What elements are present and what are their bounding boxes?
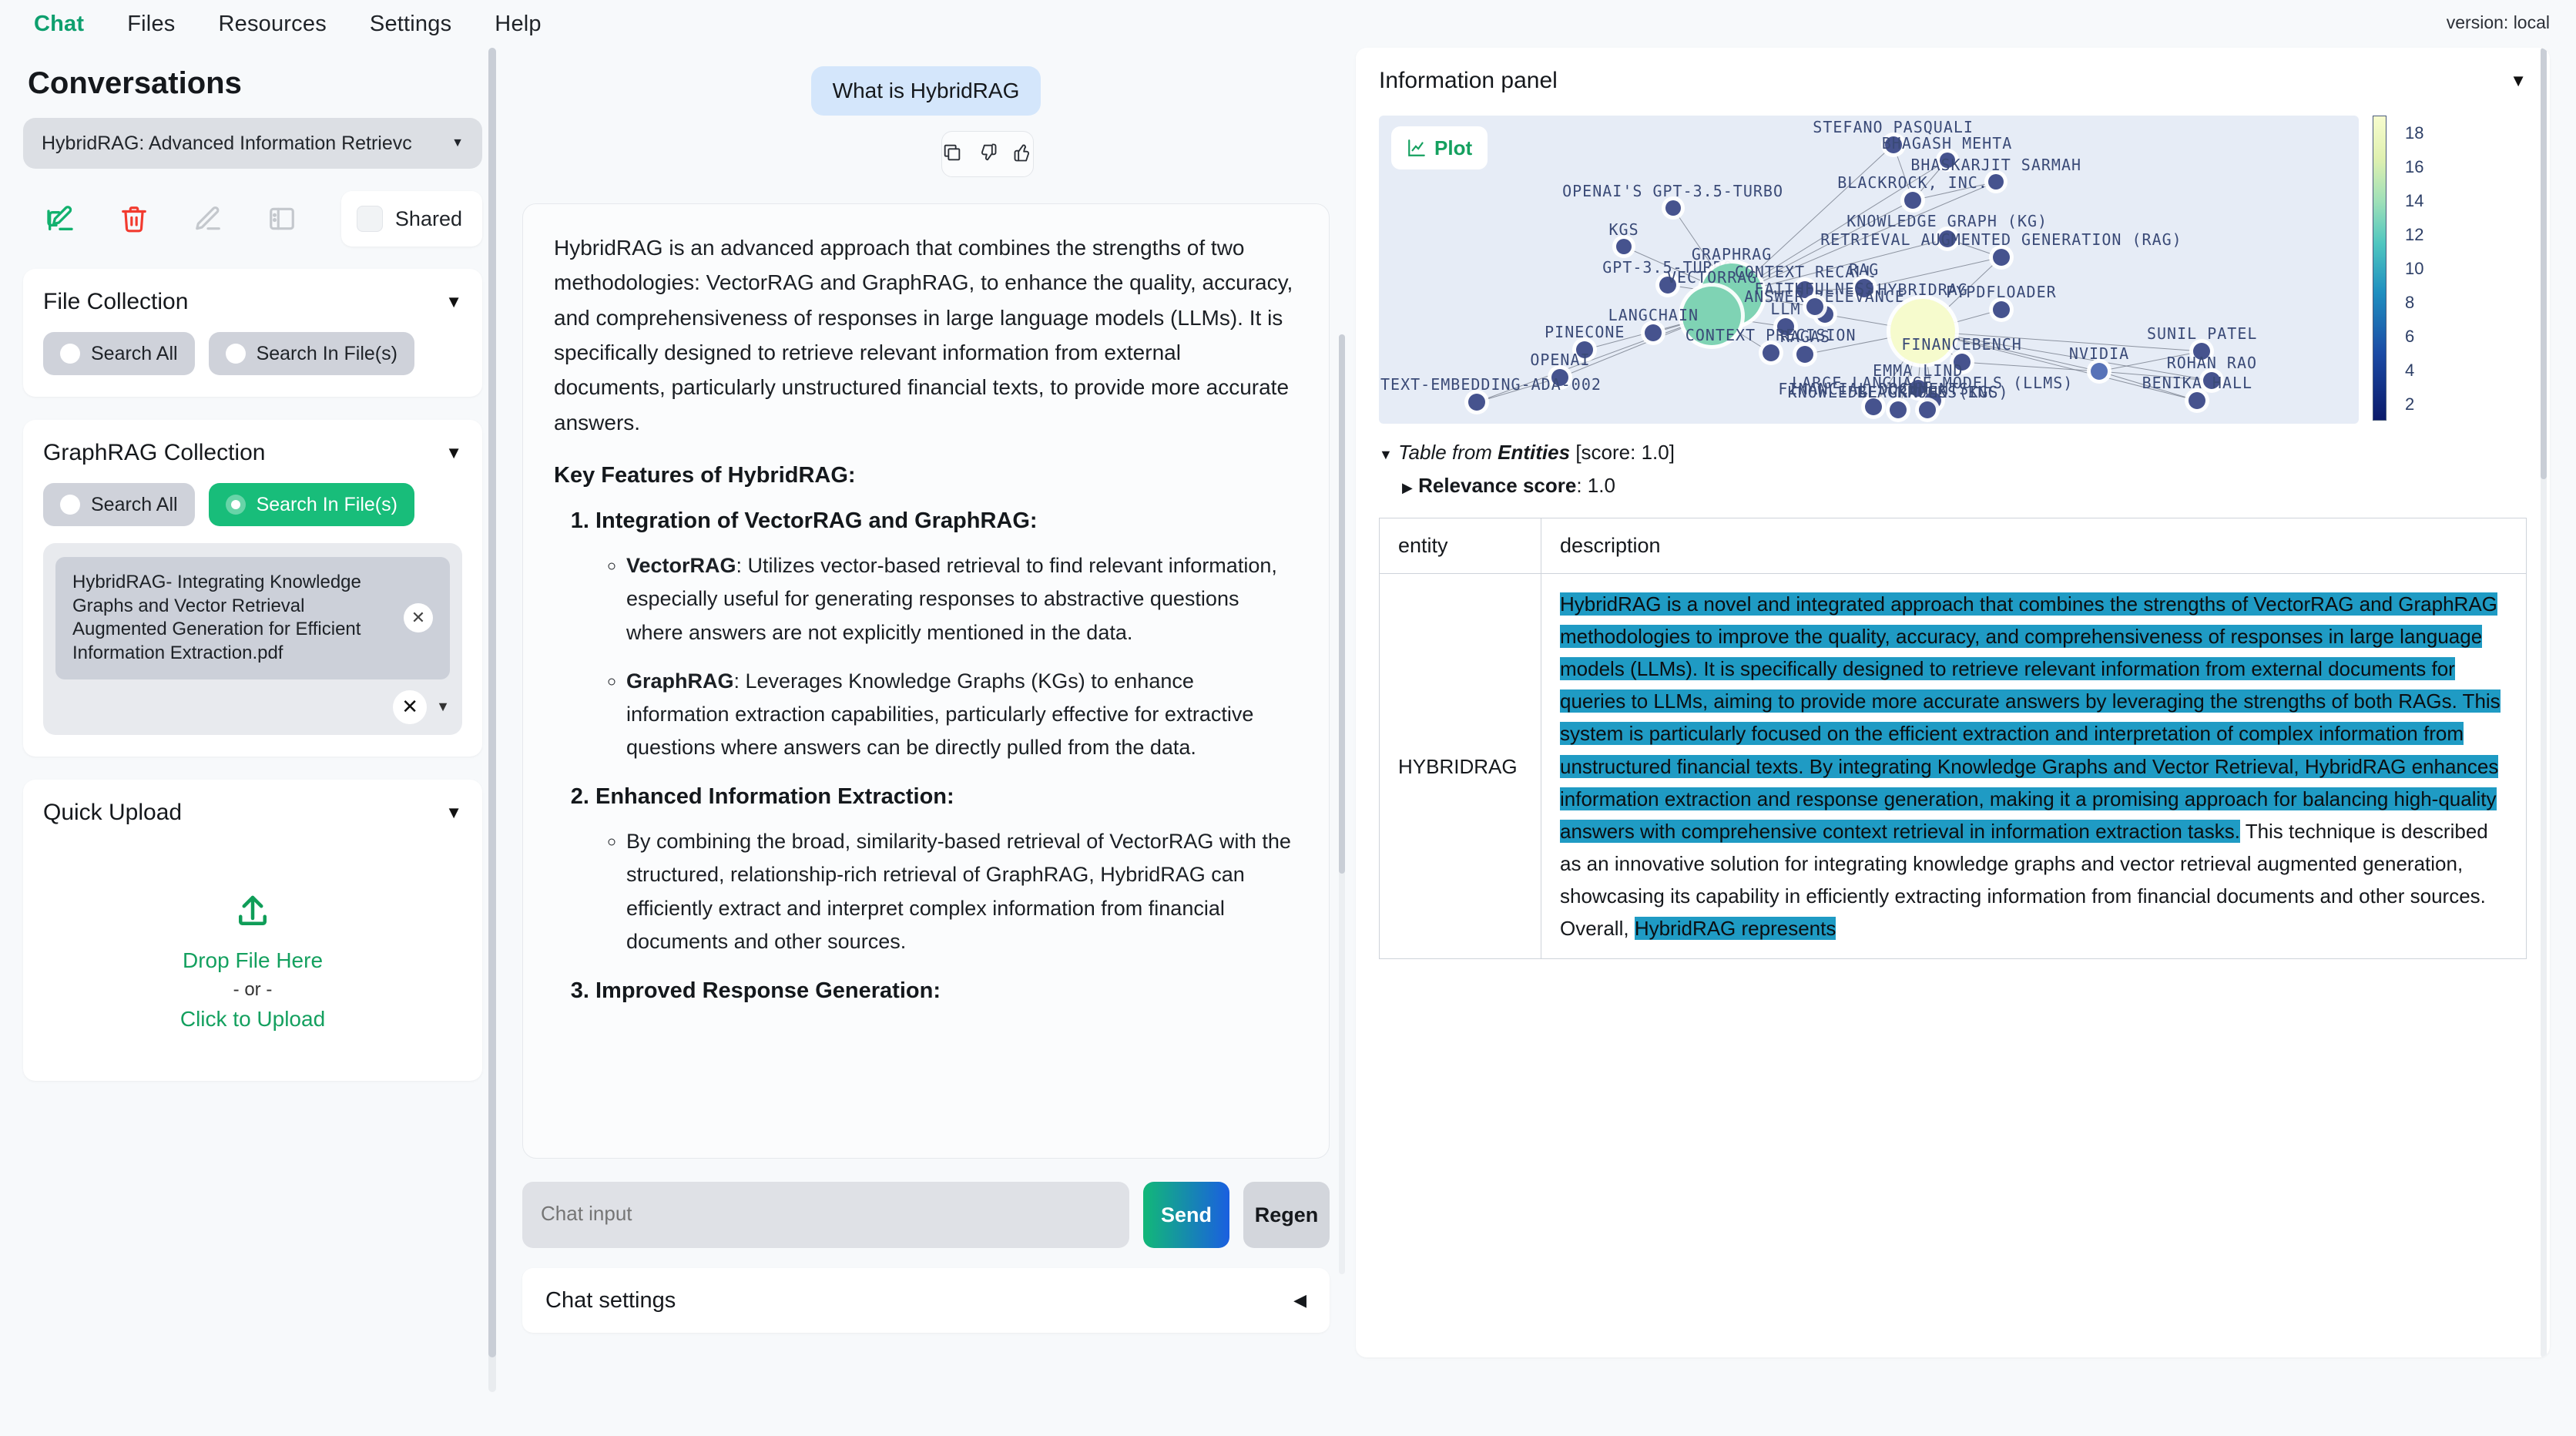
radio-icon bbox=[60, 495, 80, 515]
chat-settings-bar[interactable]: Chat settings ◀ bbox=[522, 1268, 1330, 1333]
chevron-down-icon[interactable]: ▼ bbox=[2510, 71, 2527, 91]
new-chat-button[interactable] bbox=[23, 195, 97, 243]
cell-entity: HYBRIDRAG bbox=[1380, 574, 1541, 959]
information-panel: Information panel ▼ Plot STEFANO PASQUAL… bbox=[1356, 48, 2550, 1357]
file-collection-options: Search All Search In File(s) bbox=[43, 332, 462, 375]
colorbar-tick-label: 14 bbox=[2405, 191, 2423, 211]
feature-bullets: By combining the broad, similarity-based… bbox=[626, 825, 1298, 958]
chat-input-row: Send Regen bbox=[522, 1182, 1330, 1248]
chat-scrollbar-thumb[interactable] bbox=[1339, 334, 1345, 874]
table-header-row: entity description bbox=[1380, 518, 2527, 574]
graph-node-label: LANGCHAIN bbox=[1608, 306, 1699, 324]
quick-upload-card: Quick Upload ▼ Drop File Here - or - Cli… bbox=[23, 780, 482, 1081]
main-layout: Conversations HybridRAG: Advanced Inform… bbox=[0, 48, 2576, 1436]
file-collection-header[interactable]: File Collection ▼ bbox=[43, 289, 462, 315]
graph-node[interactable] bbox=[2091, 363, 2108, 380]
pencil-icon bbox=[193, 204, 223, 233]
clear-all-files-icon[interactable]: ✕ bbox=[393, 690, 427, 724]
colorbar-tick-label: 18 bbox=[2405, 123, 2423, 143]
panel-layout-icon bbox=[267, 204, 297, 233]
graph-node-label: CONTEXT PRECISION bbox=[1685, 326, 1857, 344]
chat-settings-label: Chat settings bbox=[545, 1288, 676, 1314]
graphrag-collection-header[interactable]: GraphRAG Collection ▼ bbox=[43, 440, 462, 466]
graph-node-label: KNOWLEDGE GRAPH (KG) bbox=[1846, 212, 2048, 230]
selected-file-name: HybridRAG- Integrating Knowledge Graphs … bbox=[72, 571, 393, 666]
feature-title: Enhanced Information Extraction: bbox=[595, 784, 954, 809]
bullet-item: By combining the broad, similarity-based… bbox=[626, 825, 1298, 958]
message-actions bbox=[941, 131, 1034, 177]
colorbar-tick-label: 12 bbox=[2405, 225, 2423, 245]
chevron-down-icon[interactable]: ▼ bbox=[445, 443, 462, 463]
page-title: Conversations bbox=[28, 66, 482, 101]
graph-node-label: BHAGASH MEHTA bbox=[1882, 134, 2013, 153]
graph-node-label: RETRIEVAL AUGMENTED GENERATION (RAG) bbox=[1820, 230, 2182, 249]
edit-conversation-button[interactable] bbox=[171, 195, 245, 243]
graph-node-label: TEXT-EMBEDDING-ADA-002 bbox=[1380, 375, 1602, 394]
shared-toggle[interactable]: Shared bbox=[341, 191, 482, 247]
triangle-down-icon[interactable]: ▼ bbox=[1379, 447, 1393, 462]
graph-node-label: RAGAS bbox=[1780, 327, 1830, 346]
graph-node-label: PINECONE bbox=[1545, 323, 1625, 341]
user-message-bubble: What is HybridRAG bbox=[811, 66, 1041, 116]
conversation-select-value: HybridRAG: Advanced Information Retrievc bbox=[42, 133, 412, 155]
chevron-down-icon: ▼ bbox=[451, 136, 464, 150]
graph-node-label: ROHAN RAO bbox=[2167, 354, 2257, 372]
nav-item-settings[interactable]: Settings bbox=[370, 12, 451, 37]
triangle-right-icon[interactable]: ▶ bbox=[1402, 480, 1413, 495]
graph-node[interactable] bbox=[1993, 249, 2010, 266]
top-navigation: Chat Files Resources Settings Help versi… bbox=[0, 0, 2576, 48]
copy-button[interactable] bbox=[941, 142, 963, 167]
user-message-row: What is HybridRAG bbox=[522, 66, 1330, 116]
table-row: HYBRIDRAG HybridRAG is a novel and integ… bbox=[1380, 574, 2527, 959]
graph-node-label: PYPDFLOADER bbox=[1946, 283, 2056, 301]
bullet-item: VectorRAG: Utilizes vector-based retriev… bbox=[626, 549, 1298, 649]
column-header-description: description bbox=[1541, 518, 2527, 574]
version-label: version: local bbox=[2447, 12, 2550, 33]
quick-upload-title: Quick Upload bbox=[43, 800, 182, 826]
graph-node-label: RAG bbox=[1849, 260, 1879, 279]
colorbar-tick-label: 16 bbox=[2405, 157, 2423, 177]
nav-item-resources[interactable]: Resources bbox=[218, 12, 326, 37]
selected-files-box: HybridRAG- Integrating Knowledge Graphs … bbox=[43, 543, 462, 735]
feature-title: Improved Response Generation: bbox=[595, 978, 941, 1003]
colorbar-tick-label: 4 bbox=[2405, 361, 2414, 381]
conversation-actions: Shared bbox=[23, 192, 482, 246]
chevron-down-icon[interactable]: ▼ bbox=[436, 699, 450, 715]
file-collection-card: File Collection ▼ Search All Search In F… bbox=[23, 269, 482, 397]
graph-node-label: BHASKARJIT SARMAH bbox=[1910, 156, 2081, 174]
sidebar: Conversations HybridRAG: Advanced Inform… bbox=[23, 48, 501, 1436]
column-header-entity: entity bbox=[1380, 518, 1541, 574]
option-label: Search All bbox=[91, 343, 178, 365]
file-collection-title: File Collection bbox=[43, 289, 188, 315]
relevance-score-line[interactable]: ▶ Relevance score: 1.0 bbox=[1379, 474, 2527, 498]
entities-table: entity description HYBRIDRAG HybridRAG i… bbox=[1379, 518, 2527, 959]
graph-node[interactable] bbox=[1806, 298, 1823, 315]
graph-node[interactable] bbox=[2189, 392, 2205, 409]
new-chat-icon bbox=[45, 203, 75, 234]
colorbar-tick-label: 6 bbox=[2405, 327, 2414, 347]
colorbar-tick-label: 2 bbox=[2405, 394, 2414, 414]
option-label: Search In File(s) bbox=[257, 494, 397, 516]
shared-checkbox[interactable] bbox=[357, 206, 383, 232]
delete-conversation-button[interactable] bbox=[97, 195, 171, 243]
graph-node[interactable] bbox=[1890, 299, 1955, 364]
bullet-item: GraphRAG: Leverages Knowledge Graphs (KG… bbox=[626, 665, 1298, 765]
thumbs-down-icon bbox=[977, 142, 998, 163]
relevance-score-label: Relevance score bbox=[1418, 474, 1576, 497]
chat-column: What is HybridRAG Hyb bbox=[501, 48, 1348, 1436]
graphrag-collection-card: GraphRAG Collection ▼ Search All Search … bbox=[23, 420, 482, 757]
chevron-down-icon[interactable]: ▼ bbox=[445, 803, 462, 823]
information-column: Information panel ▼ Plot STEFANO PASQUAL… bbox=[1348, 48, 2550, 1436]
thumbs-up-icon bbox=[1012, 142, 1034, 163]
feature-bullets: VectorRAG: Utilizes vector-based retriev… bbox=[626, 549, 1298, 764]
conversation-select[interactable]: HybridRAG: Advanced Information Retrievc… bbox=[23, 118, 482, 169]
upload-icon bbox=[232, 891, 273, 932]
graph-node[interactable] bbox=[1763, 344, 1779, 361]
graph-node-label: BLACKROCK, INC. bbox=[1837, 173, 1988, 192]
entities-table-head: entity description bbox=[1380, 518, 2527, 574]
bullet-text: By combining the broad, similarity-based… bbox=[626, 830, 1291, 953]
remove-file-icon[interactable]: ✕ bbox=[404, 603, 433, 632]
shared-label: Shared bbox=[395, 207, 462, 231]
relevance-score-value: : 1.0 bbox=[1576, 474, 1615, 497]
graph-node[interactable] bbox=[1665, 200, 1681, 216]
assistant-intro: HybridRAG is an advanced approach that c… bbox=[554, 230, 1298, 440]
thumbs-up-button[interactable] bbox=[1012, 142, 1034, 167]
graph-node[interactable] bbox=[1993, 301, 2010, 318]
graph-node[interactable] bbox=[1645, 324, 1662, 341]
feature-item: Integration of VectorRAG and GraphRAG: V… bbox=[595, 508, 1298, 764]
graph-node-label: NVIDIA bbox=[2069, 344, 2129, 363]
graph-node-label: SUNIL PATEL bbox=[2147, 324, 2257, 343]
colorbar-tick-label: 10 bbox=[2405, 259, 2423, 279]
graph-node[interactable] bbox=[1890, 401, 1907, 418]
regen-button[interactable]: Regen bbox=[1243, 1182, 1330, 1248]
option-label: Search In File(s) bbox=[257, 343, 397, 365]
plot-button-label: Plot bbox=[1434, 136, 1472, 160]
plot-button[interactable]: Plot bbox=[1391, 126, 1488, 169]
selected-files-footer: ✕ ▼ bbox=[55, 690, 450, 724]
table-from-prefix: Table from bbox=[1398, 441, 1498, 464]
file-dropzone[interactable]: Drop File Here - or - Click to Upload bbox=[43, 826, 462, 1059]
chevron-down-icon[interactable]: ▼ bbox=[445, 292, 462, 312]
option-label: Search All bbox=[91, 494, 178, 516]
graph-node-label: BENIKA HALL bbox=[2142, 374, 2252, 392]
file-collection-search-all[interactable]: Search All bbox=[43, 332, 195, 375]
graph-node-label: FINANCEBENCH bbox=[1901, 335, 2022, 354]
sidebar-scrollbar-thumb[interactable] bbox=[488, 48, 496, 1357]
knowledge-graph-plot[interactable]: Plot STEFANO PASQUALIBHAGASH MEHTABHASKA… bbox=[1379, 116, 2359, 424]
table-from-score: [score: 1.0] bbox=[1570, 441, 1675, 464]
nav-item-help[interactable]: Help bbox=[495, 12, 541, 37]
quick-upload-header[interactable]: Quick Upload ▼ bbox=[43, 800, 462, 826]
entities-table-body: HYBRIDRAG HybridRAG is a novel and integ… bbox=[1380, 574, 2527, 959]
chevron-left-icon[interactable]: ◀ bbox=[1293, 1290, 1306, 1310]
info-scrollbar-thumb[interactable] bbox=[2541, 48, 2547, 479]
radio-icon bbox=[60, 344, 80, 364]
graph-node-label: VECTORRAG bbox=[1667, 268, 1757, 287]
bullet-lead: VectorRAG bbox=[626, 554, 736, 577]
or-separator: - or - bbox=[43, 979, 462, 1001]
cell-description: HybridRAG is a novel and integrated appr… bbox=[1541, 574, 2527, 959]
nav-item-chat[interactable]: Chat bbox=[34, 12, 84, 37]
graph-node-label: LLM bbox=[1770, 300, 1800, 318]
colorbar-ticks: 24681012141618 bbox=[2400, 116, 2447, 421]
assistant-feature-list: Integration of VectorRAG and GraphRAG: V… bbox=[595, 508, 1298, 1004]
graph-plot-wrapper: Plot STEFANO PASQUALIBHAGASH MEHTABHASKA… bbox=[1379, 116, 2527, 424]
graph-node-label: KGS bbox=[1609, 220, 1639, 239]
thumbs-down-button[interactable] bbox=[977, 142, 998, 167]
radio-icon bbox=[226, 344, 246, 364]
table-from-source: Entities bbox=[1498, 441, 1570, 464]
feature-title: Integration of VectorRAG and GraphRAG: bbox=[595, 508, 1038, 533]
feature-item: Improved Response Generation: bbox=[595, 978, 1298, 1004]
bullet-lead: GraphRAG bbox=[626, 669, 734, 693]
graph-node-label: FAITHFULNESS bbox=[1755, 280, 1876, 298]
file-collection-search-in-files[interactable]: Search In File(s) bbox=[209, 332, 414, 375]
graphrag-collection-options: Search All Search In File(s) bbox=[43, 483, 462, 526]
chat-input[interactable] bbox=[522, 1182, 1129, 1248]
selected-file-chip: HybridRAG- Integrating Knowledge Graphs … bbox=[55, 557, 450, 679]
assistant-features-heading: Key Features of HybridRAG: bbox=[554, 463, 1298, 488]
colorbar-tick-label: 8 bbox=[2405, 293, 2414, 313]
highlight-span: HybridRAG represents bbox=[1635, 917, 1836, 940]
chart-icon bbox=[1407, 138, 1427, 158]
graphrag-search-in-files[interactable]: Search In File(s) bbox=[209, 483, 414, 526]
colorbar bbox=[2373, 116, 2386, 421]
panel-toggle-button[interactable] bbox=[245, 195, 319, 243]
graph-node-label: OPENAI'S GPT-3.5-TURBO bbox=[1562, 182, 1783, 200]
graph-node[interactable] bbox=[1616, 239, 1632, 254]
graphrag-collection-title: GraphRAG Collection bbox=[43, 440, 265, 466]
graphrag-search-all[interactable]: Search All bbox=[43, 483, 195, 526]
radio-selected-icon bbox=[226, 495, 246, 515]
copy-icon bbox=[941, 142, 963, 163]
graph-node-label: GRAPHRAG bbox=[1692, 245, 1772, 263]
assistant-message: HybridRAG is an advanced approach that c… bbox=[522, 203, 1330, 1159]
drop-file-label: Drop File Here bbox=[43, 948, 462, 973]
information-panel-header[interactable]: Information panel ▼ bbox=[1379, 68, 2527, 94]
information-panel-title: Information panel bbox=[1379, 68, 1558, 94]
graph-node-label: BLACKROCKS INC bbox=[1857, 383, 1998, 401]
feature-item: Enhanced Information Extraction: By comb… bbox=[595, 784, 1298, 958]
table-source-line[interactable]: ▼ Table from Entities [score: 1.0] bbox=[1379, 441, 2527, 465]
click-to-upload-link[interactable]: Click to Upload bbox=[43, 1007, 462, 1032]
graph-node-label: OPENAI bbox=[1530, 351, 1590, 369]
nav-item-files[interactable]: Files bbox=[127, 12, 175, 37]
trash-icon bbox=[119, 204, 149, 233]
send-button[interactable]: Send bbox=[1143, 1182, 1229, 1248]
